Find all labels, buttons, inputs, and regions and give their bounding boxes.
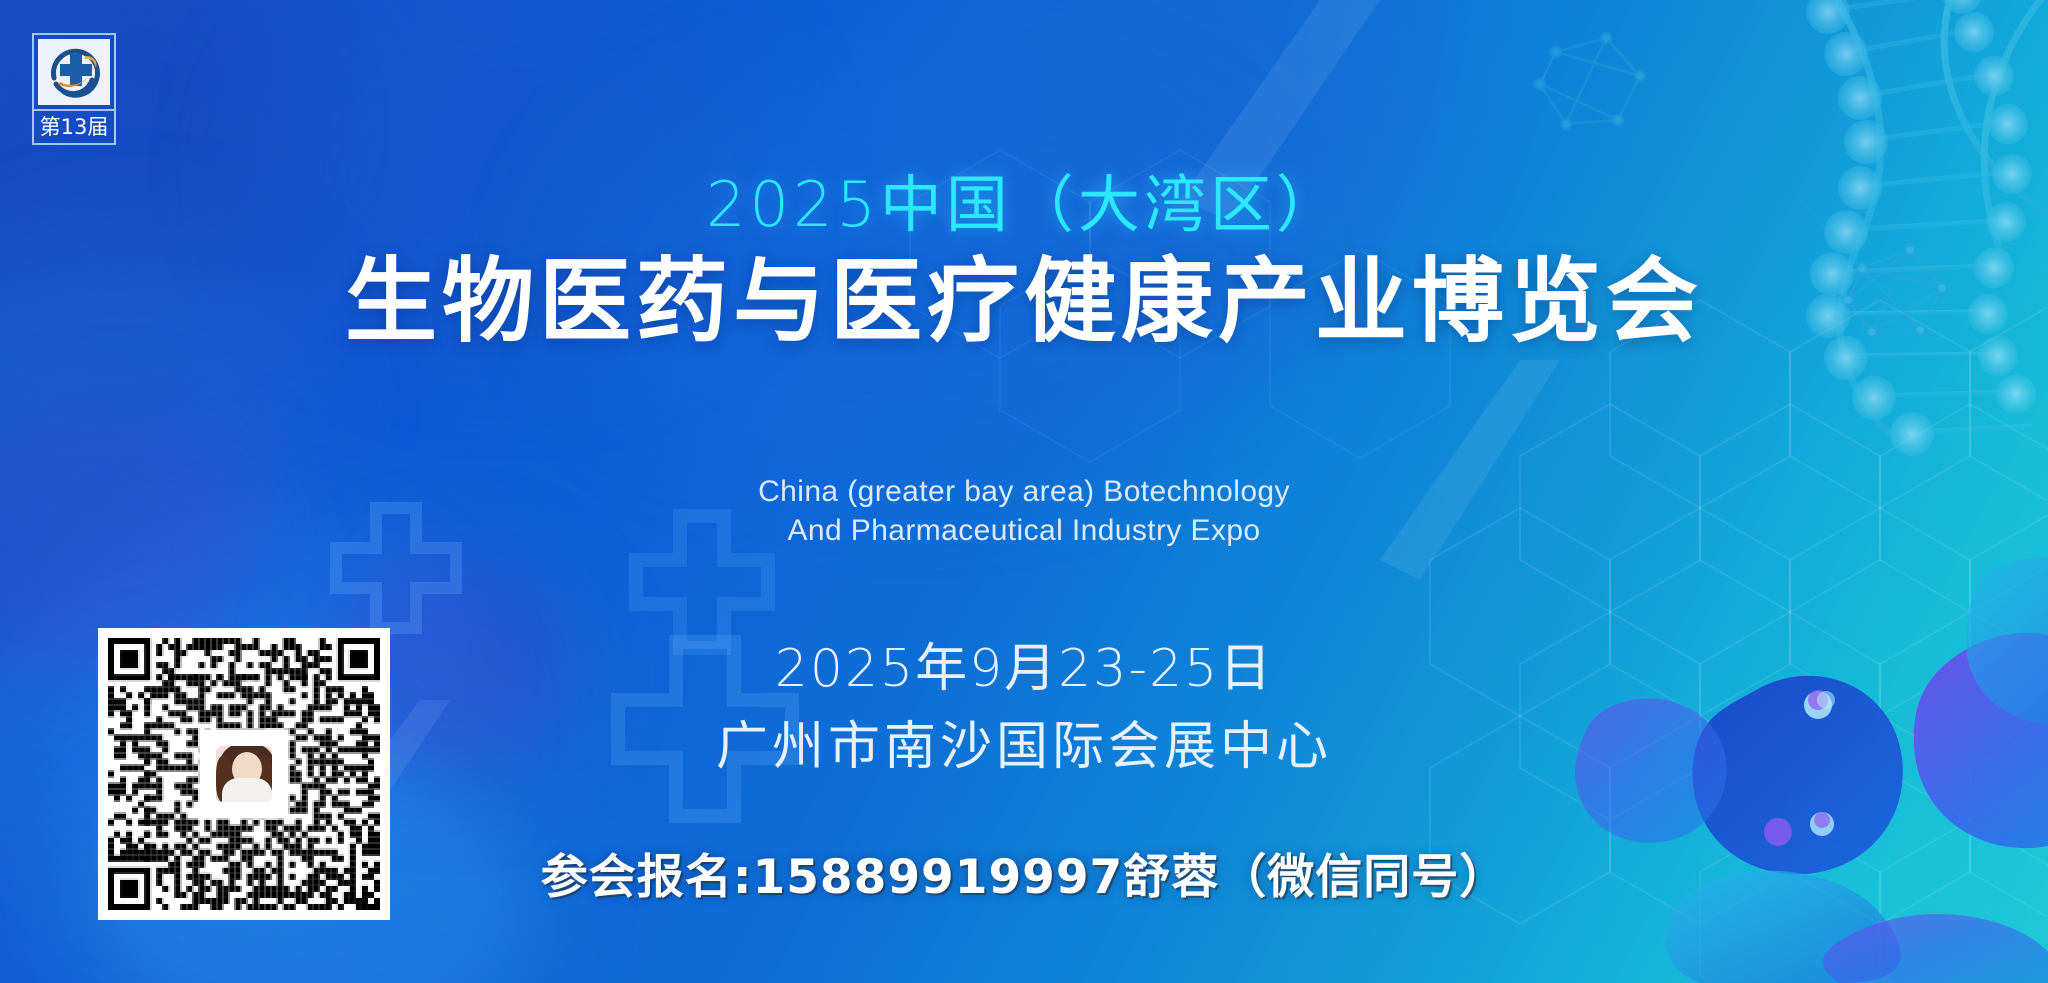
edition-badge: 第13届 bbox=[32, 33, 116, 145]
molecule-network-icon bbox=[1535, 33, 1645, 129]
qr-code[interactable] bbox=[98, 628, 390, 920]
event-poster: 第13届 2025中国（大湾区） 生物医药与医疗健康产业博览会 China (g… bbox=[0, 0, 2048, 983]
title-line-region: 2025中国（大湾区） bbox=[0, 170, 2048, 240]
subtitle-en-line2: And Pharmaceutical Industry Expo bbox=[0, 512, 2048, 550]
subtitle-en-line1: China (greater bay area) Botechnology bbox=[0, 473, 2048, 511]
badge-edition-label: 第13届 bbox=[40, 111, 109, 143]
avatar bbox=[213, 743, 275, 805]
title-line-main: 生物医药与医疗健康产业博览会 bbox=[0, 248, 2048, 356]
expo-logo-icon bbox=[38, 39, 110, 105]
